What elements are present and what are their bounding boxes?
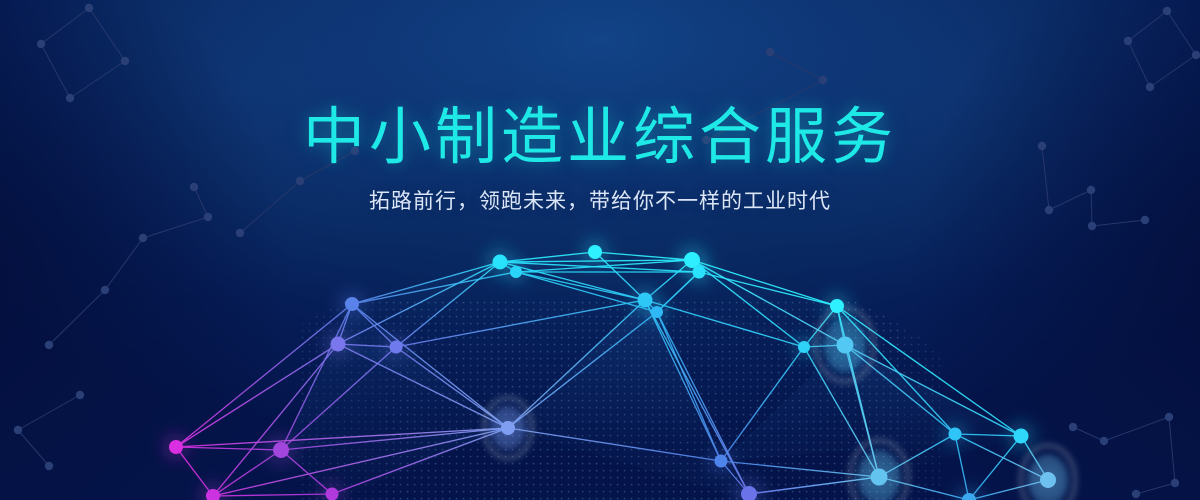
dome-edge xyxy=(176,344,338,447)
dome-edge xyxy=(396,347,508,428)
dome-node xyxy=(651,306,663,318)
dome-edge xyxy=(213,494,332,496)
dome-edge xyxy=(281,304,352,450)
dome-edge xyxy=(396,262,500,347)
dome-edge xyxy=(699,272,837,306)
dome-node xyxy=(871,469,888,486)
dome-node xyxy=(1040,472,1056,488)
dome-node xyxy=(501,421,515,435)
dome-node xyxy=(390,341,403,354)
dome-node xyxy=(715,455,728,468)
dome-node-glows xyxy=(484,308,1075,500)
dome-edges xyxy=(176,252,1048,500)
dome-edge xyxy=(281,347,396,450)
dome-edge xyxy=(352,272,516,304)
dome-edge xyxy=(352,262,500,304)
dome-node xyxy=(345,297,359,311)
dome-edge xyxy=(338,344,508,428)
dome-node xyxy=(169,440,183,454)
dome-node xyxy=(273,442,289,458)
dome-node xyxy=(510,266,522,278)
dome-edge xyxy=(332,428,508,494)
dome-node xyxy=(1014,429,1029,444)
dome-node xyxy=(949,428,962,441)
dome-node xyxy=(693,266,706,279)
dome-nodes xyxy=(161,237,1064,500)
dome-edge xyxy=(508,428,721,461)
hero-banner: 中小制造业综合服务 拓路前行，领跑未来，带给你不一样的工业时代 xyxy=(0,0,1200,500)
dome-edge xyxy=(657,312,749,494)
dome-node xyxy=(837,337,854,354)
dome-node xyxy=(798,341,810,353)
dome-node xyxy=(331,337,346,352)
dome-node xyxy=(326,488,339,500)
wireframe-dome-network xyxy=(0,0,1200,500)
dome-node xyxy=(588,245,602,259)
dome-edge xyxy=(516,272,645,300)
dome-node xyxy=(830,299,844,313)
dome-edge xyxy=(213,428,508,496)
dome-edge xyxy=(692,260,837,306)
dome-edge xyxy=(721,347,804,461)
dome-edge xyxy=(396,300,645,347)
dome-edge xyxy=(508,312,657,428)
dome-edge xyxy=(721,461,879,477)
dome-edge xyxy=(657,312,721,461)
dome-edge xyxy=(176,304,352,447)
